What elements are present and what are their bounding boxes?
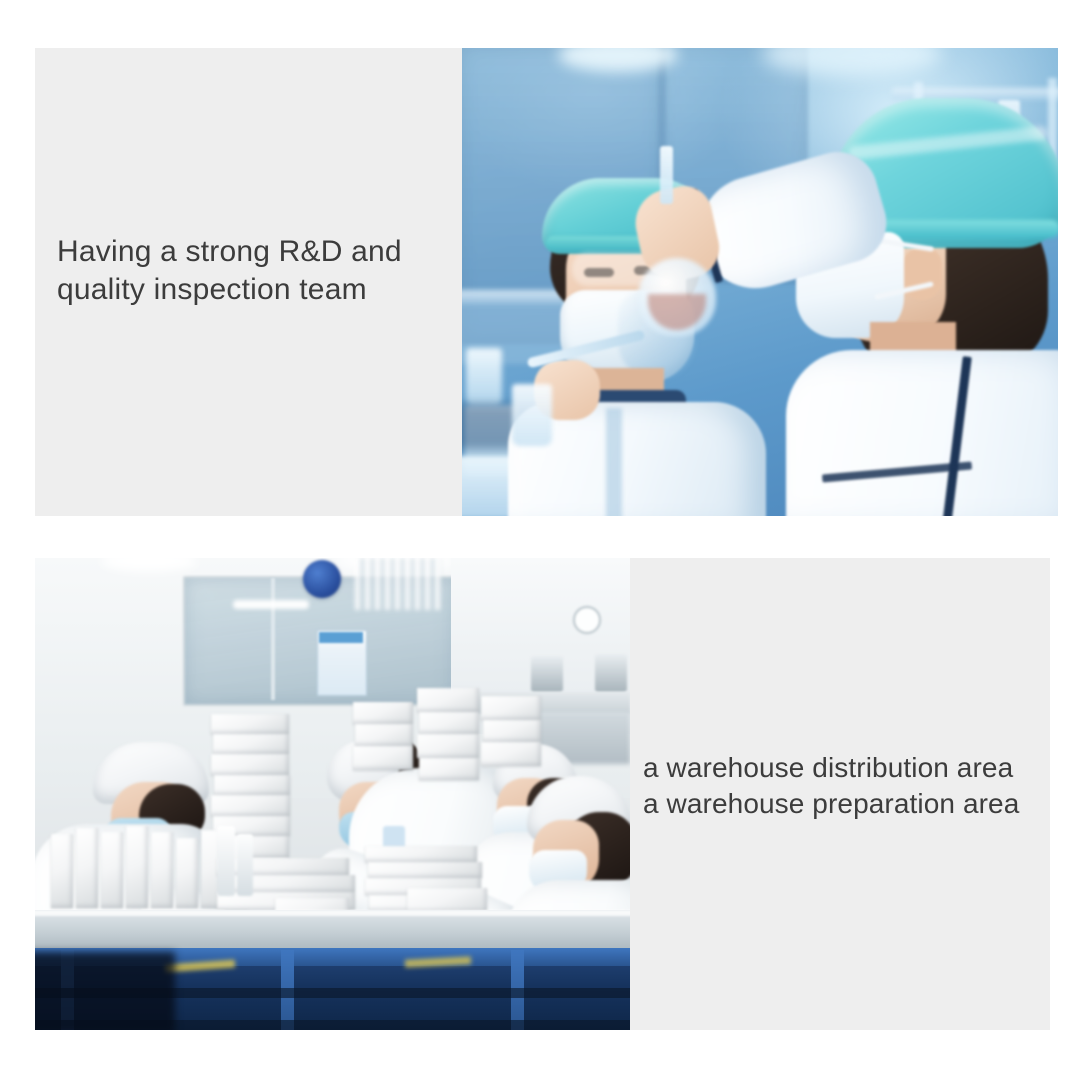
lower-vial bbox=[512, 384, 552, 446]
under-table-dark-shadow bbox=[35, 952, 175, 1030]
carton bbox=[176, 838, 198, 908]
box bbox=[214, 775, 290, 795]
top-caption: Having a strong R&D and quality inspecti… bbox=[57, 233, 447, 309]
ceiling-strip-curtain bbox=[355, 558, 441, 610]
box bbox=[211, 795, 290, 816]
vial-on-table bbox=[217, 826, 235, 896]
warehouse-packing-photo bbox=[35, 558, 630, 1030]
box-single-foreground-3 bbox=[407, 888, 487, 912]
box bbox=[365, 846, 477, 862]
lab-inspection-photo bbox=[462, 48, 1058, 516]
bottom-caption: a warehouse distribution area a warehous… bbox=[643, 750, 1043, 822]
flask-neck bbox=[660, 146, 673, 204]
wall-clock-icon bbox=[573, 606, 601, 634]
box bbox=[481, 696, 541, 720]
warehouse-window-mullion bbox=[271, 578, 275, 700]
safety-sign-icon bbox=[303, 560, 341, 598]
steel-pot-2 bbox=[595, 654, 627, 692]
wall-poster-header bbox=[319, 632, 363, 643]
box-stack-right-upper bbox=[353, 688, 543, 838]
technician-left-coat-lapel bbox=[606, 408, 622, 516]
box bbox=[419, 758, 479, 780]
box bbox=[355, 724, 413, 746]
carton bbox=[76, 828, 98, 908]
technician-right-coat bbox=[786, 350, 1058, 516]
bottom-section: a warehouse distribution area a warehous… bbox=[35, 558, 1050, 1030]
top-section: Having a strong R&D and quality inspecti… bbox=[35, 48, 1058, 516]
box bbox=[211, 714, 289, 734]
lab-beaker-left bbox=[466, 348, 502, 406]
box bbox=[417, 688, 479, 712]
warehouse-window-light bbox=[233, 600, 309, 609]
box bbox=[353, 702, 413, 724]
box bbox=[417, 734, 479, 758]
technician-right bbox=[762, 82, 1058, 516]
box bbox=[211, 754, 289, 775]
steel-pot-1 bbox=[531, 656, 563, 692]
steel-table-edge-highlight bbox=[35, 910, 630, 916]
box bbox=[481, 742, 541, 766]
lab-scene bbox=[462, 48, 1058, 516]
steel-work-table bbox=[35, 910, 630, 952]
technician-right-ear bbox=[902, 248, 942, 300]
vial-on-table-2 bbox=[237, 834, 253, 896]
banner-page: Having a strong R&D and quality inspecti… bbox=[0, 0, 1080, 1080]
carton bbox=[151, 832, 173, 908]
warehouse-scene bbox=[35, 558, 630, 1030]
carton bbox=[51, 834, 73, 908]
box bbox=[368, 862, 482, 878]
box bbox=[353, 746, 413, 770]
box bbox=[419, 712, 479, 734]
carton bbox=[101, 832, 123, 908]
carton bbox=[126, 826, 148, 908]
box bbox=[213, 734, 289, 754]
box bbox=[483, 720, 541, 742]
